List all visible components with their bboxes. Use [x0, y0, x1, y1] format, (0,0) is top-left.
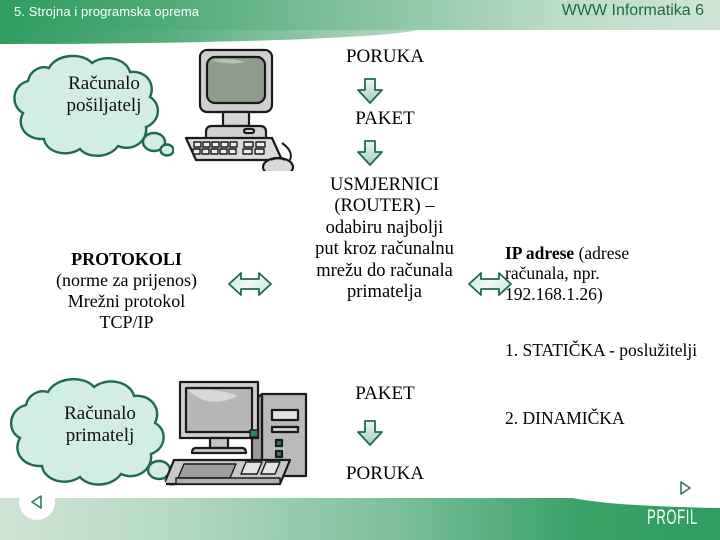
router-line-5: mrežu do računala — [272, 261, 497, 282]
ip-addresses-desc-2: računala, npr. — [517, 263, 717, 283]
flow-paket-top: PAKET — [285, 108, 485, 130]
protocols-line-1: (norme za prijenos) — [14, 270, 239, 291]
desktop-computer-icon — [166, 372, 316, 497]
cloud-sender-label: Računalo pošiljatelj — [24, 73, 184, 118]
protocols-line-2: Mrežni protokol — [14, 291, 239, 312]
cloud-receiver-line1: Računalo — [20, 403, 180, 425]
ip-addresses-desc-3: 192.168.1.26) — [517, 284, 717, 304]
ip-type-static: 1. STATIČKA - poslužitelji — [505, 340, 710, 360]
router-line-2: (ROUTER) – — [272, 196, 497, 217]
slide-header: 5. Strojna i programska oprema WWW Infor… — [0, 0, 720, 30]
protocols-block: PROTOKOLI (norme za prijenos) Mrežni pro… — [14, 249, 239, 333]
brand-label: WWW Informatika 6 — [562, 2, 704, 20]
arrow-down-icon — [355, 140, 385, 166]
crt-computer-icon — [178, 46, 298, 171]
page-title: 5. Strojna i programska oprema — [14, 4, 199, 19]
flow-router-block: USMJERNICI (ROUTER) – odabiru najbolji p… — [272, 175, 497, 304]
next-slide-button[interactable] — [667, 470, 703, 506]
router-line-6: primatelja — [272, 282, 497, 303]
cloud-sender-line2: pošiljatelj — [24, 95, 184, 117]
cloud-receiver-label: Računalo primatelj — [20, 403, 180, 448]
router-line-1: USMJERNICI — [272, 175, 497, 196]
protocols-heading: PROTOKOLI — [14, 249, 239, 270]
ip-addresses-desc-1: (adrese — [574, 243, 629, 263]
arrow-down-icon — [355, 420, 385, 446]
ip-addresses-heading: IP adrese — [505, 243, 574, 263]
header-curve-decoration — [0, 28, 420, 44]
router-line-4: put kroz računalnu — [272, 239, 497, 260]
slide-footer — [0, 498, 720, 540]
profile-label: PROFIL — [647, 506, 698, 530]
flow-poruka-top: PORUKA — [285, 46, 485, 68]
arrow-down-icon — [355, 78, 385, 104]
previous-slide-button[interactable] — [19, 484, 55, 520]
router-line-3: odabiru najbolji — [272, 218, 497, 239]
ip-addresses-block: IP adrese (adrese računala, npr. 192.168… — [505, 243, 717, 304]
cloud-receiver-line2: primatelj — [20, 425, 180, 447]
slide-canvas: 5. Strojna i programska oprema WWW Infor… — [0, 0, 720, 540]
triangle-left-icon — [29, 494, 45, 510]
cloud-sender-line1: Računalo — [24, 73, 184, 95]
protocols-line-3: TCP/IP — [14, 312, 239, 333]
triangle-right-icon — [677, 480, 693, 496]
ip-type-dynamic: 2. DINAMIČKA — [505, 408, 710, 428]
